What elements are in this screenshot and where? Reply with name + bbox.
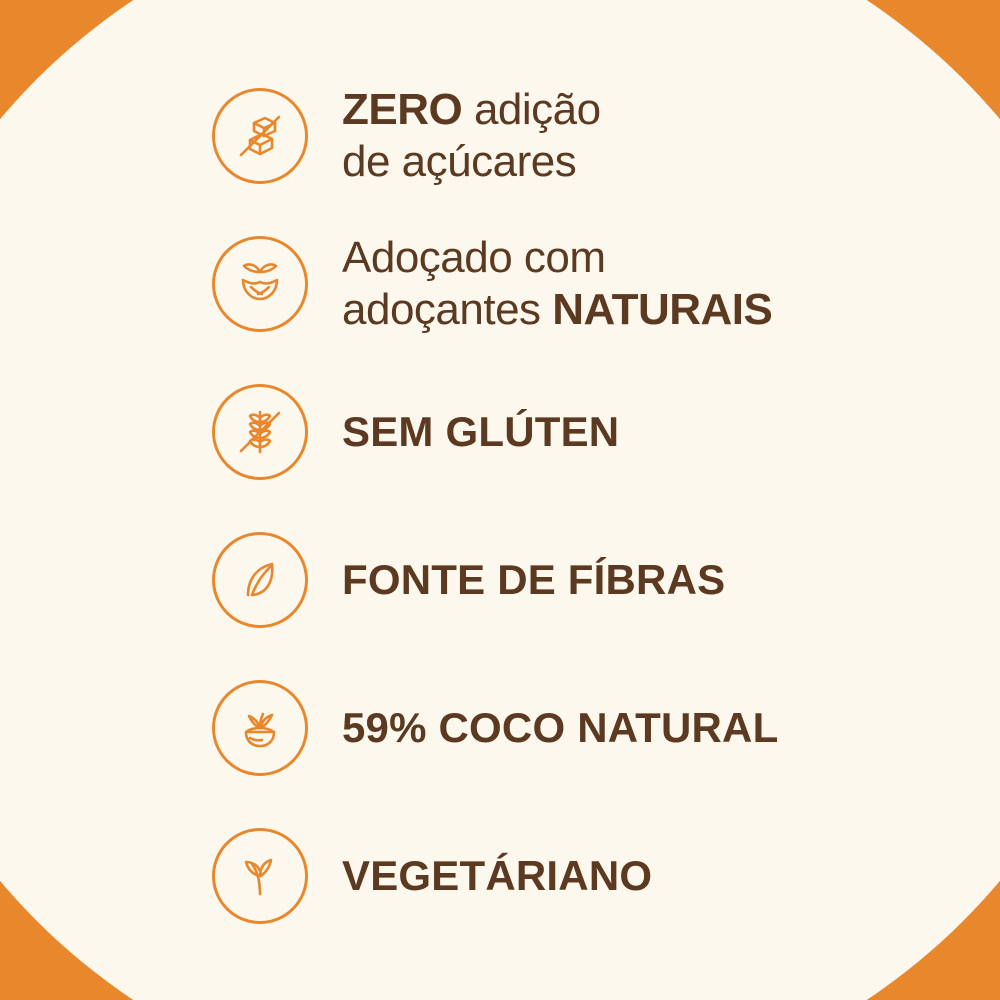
fiber-leaf-icon	[212, 532, 308, 628]
no-gluten-wheat-icon	[212, 384, 308, 480]
feature-segment: 59% COCO NATURAL	[342, 703, 778, 753]
feature-row-vegetarian: VEGETÁRIANO	[0, 802, 1000, 950]
stevia-leaf-icon	[212, 236, 308, 332]
feature-segment: adoçantes	[342, 285, 552, 334]
vegetarian-sprout-icon	[212, 828, 308, 924]
feature-text-gluten-free: SEM GLÚTEN	[342, 407, 619, 457]
feature-segment: NATURAIS	[552, 285, 772, 334]
feature-text-coconut-content: 59% COCO NATURAL	[342, 703, 778, 753]
feature-segment: ZERO	[342, 85, 474, 134]
feature-segment: de açúcares	[342, 137, 576, 186]
feature-row-gluten-free: SEM GLÚTEN	[0, 358, 1000, 506]
coconut-bowl-icon	[212, 680, 308, 776]
feature-row-natural-sweeteners: Adoçado com adoçantes NATURAIS	[0, 210, 1000, 358]
feature-segment: FONTE DE FÍBRAS	[342, 555, 725, 605]
feature-text-natural-sweeteners: Adoçado com adoçantes NATURAIS	[342, 232, 772, 336]
feature-list: ZERO adição de açúcares Adoçado com adoç…	[0, 0, 1000, 1000]
feature-line: Adoçado com	[342, 232, 772, 284]
feature-segment: adição	[474, 85, 601, 134]
feature-text-zero-sugar: ZERO adição de açúcares	[342, 84, 601, 188]
feature-segment: VEGETÁRIANO	[342, 851, 652, 901]
feature-segment: Adoçado com	[342, 233, 606, 282]
feature-line: ZERO adição	[342, 84, 601, 136]
feature-line: adoçantes NATURAIS	[342, 284, 772, 336]
feature-row-fiber-source: FONTE DE FÍBRAS	[0, 506, 1000, 654]
feature-row-zero-sugar: ZERO adição de açúcares	[0, 62, 1000, 210]
feature-line: de açúcares	[342, 136, 601, 188]
no-sugar-cubes-icon	[212, 88, 308, 184]
product-benefits-poster: ZERO adição de açúcares Adoçado com adoç…	[0, 0, 1000, 1000]
feature-text-vegetarian: VEGETÁRIANO	[342, 851, 652, 901]
feature-segment: SEM GLÚTEN	[342, 407, 619, 457]
feature-text-fiber-source: FONTE DE FÍBRAS	[342, 555, 725, 605]
feature-row-coconut-content: 59% COCO NATURAL	[0, 654, 1000, 802]
